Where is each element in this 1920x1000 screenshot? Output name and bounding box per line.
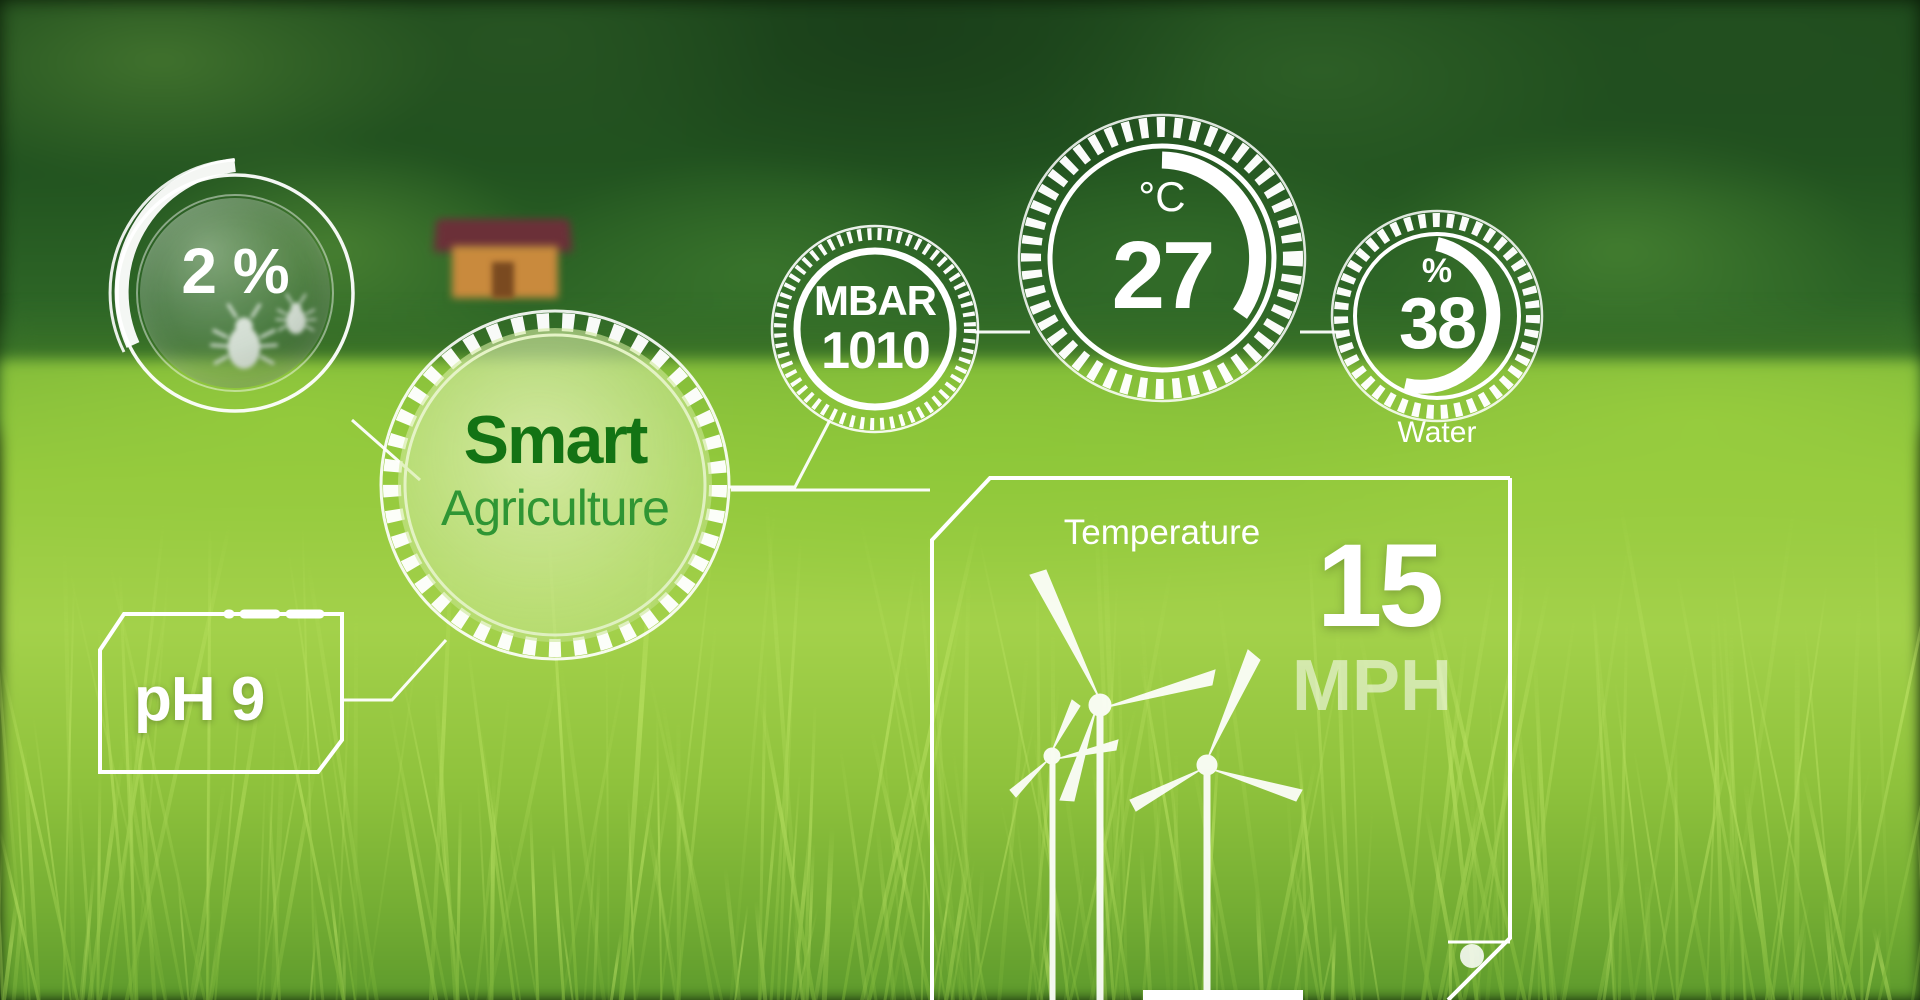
ph-panel[interactable]: pH 9 [100,608,342,790]
temperature-gauge-value: 27 [1022,228,1302,324]
hud-overlay: 2 % MBAR 1010 °C 27 Temperature % 38 Wat… [0,0,1920,1000]
wind-speed-unit: MPH [1292,650,1452,722]
ph-panel-value: pH 9 [134,664,264,735]
wind-panel-bottom-bar [1143,990,1303,1000]
pressure-gauge-readout: MBAR 1010 [770,224,980,434]
smart-agriculture-scene: 2 % MBAR 1010 °C 27 Temperature % 38 Wat… [0,0,1920,1000]
hub-title: Smart [380,406,730,474]
temperature-gauge[interactable]: °C 27 Temperature [1022,118,1302,398]
wind-speed-value: 15 [1317,527,1440,645]
pressure-gauge[interactable]: MBAR 1010 [770,224,980,434]
pest-gauge-value: 2 % [115,234,355,308]
water-gauge-unit: % [1337,254,1537,288]
wind-panel-dot [1460,944,1484,968]
pressure-gauge-unit: MBAR [814,280,936,322]
water-gauge[interactable]: % 38 Water [1337,216,1537,416]
water-gauge-label: Water [1337,416,1537,450]
pest-gauge[interactable]: 2 % [115,168,355,428]
hub-subtitle: Agriculture [380,482,730,535]
wind-panel[interactable]: 15 MPH [928,472,1510,1000]
smart-agriculture-hub[interactable]: Smart Agriculture [380,310,730,660]
hub-text: Smart Agriculture [380,406,730,535]
pressure-gauge-value: 1010 [821,324,929,379]
water-gauge-value: 38 [1337,288,1537,360]
temperature-gauge-unit: °C [1022,176,1302,218]
